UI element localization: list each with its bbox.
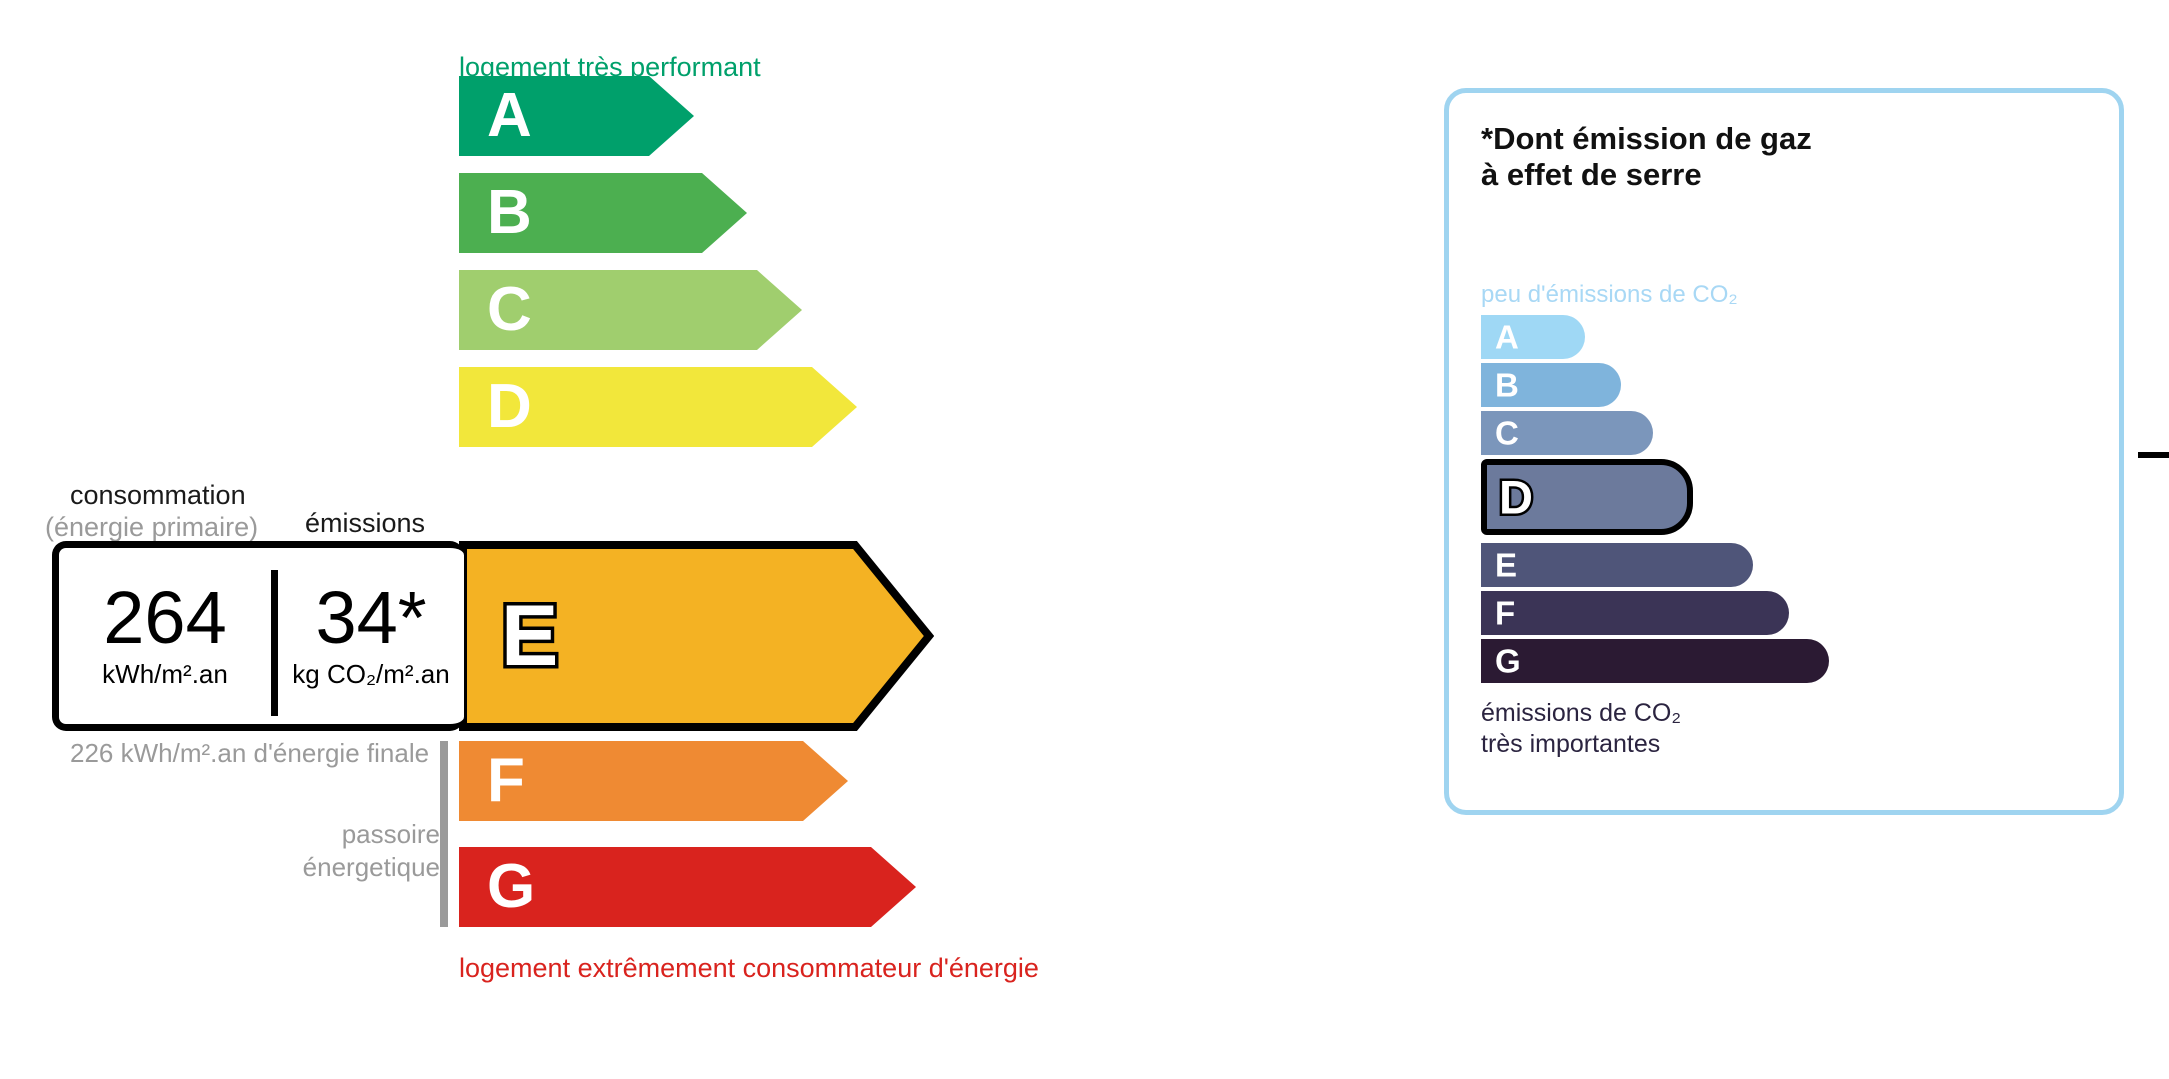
ges-class-letter-d: D: [1499, 474, 1533, 521]
energy-class-row-g[interactable]: G: [459, 847, 916, 927]
ges-class-row-d-selected[interactable]: D: [1481, 459, 1693, 535]
ges-class-row-e[interactable]: E: [1481, 543, 1753, 587]
consumption-value: 264: [103, 582, 226, 653]
ges-bar-f: F: [1481, 591, 1789, 635]
ges-class-row-b[interactable]: B: [1481, 363, 1621, 407]
energy-class-row-d[interactable]: D: [459, 367, 857, 447]
label-emissions: émissions: [305, 508, 425, 539]
emission-unit: kg CO₂/m².an: [292, 659, 449, 690]
consumption-unit: kWh/m².an: [102, 659, 228, 690]
ges-class-row-c[interactable]: C: [1481, 411, 1653, 455]
ges-bar-a: A: [1481, 315, 1585, 359]
ges-bottom-caption: émissions de CO₂ très importantes: [1481, 698, 1681, 759]
value-box-divider: [271, 570, 278, 716]
value-box: 264 kWh/m².an 34* kg CO₂/m².an: [52, 541, 464, 731]
ges-class-row-g[interactable]: G: [1481, 639, 1829, 683]
energy-class-letter-a: A: [487, 85, 532, 147]
ges-class-letter-a: A: [1495, 321, 1519, 354]
energy-performance-panel: logement très performant A B C: [0, 0, 1400, 1079]
energy-class-letter-g: G: [487, 856, 535, 918]
ges-class-letter-g: G: [1495, 645, 1521, 678]
ges-callout-line: [2138, 452, 2169, 458]
passoire-indicator-bar: [440, 741, 448, 927]
energy-class-letter-b: B: [487, 182, 532, 244]
ges-bar-e: E: [1481, 543, 1753, 587]
energy-class-row-e-selected[interactable]: E: [459, 541, 934, 731]
ges-class-letter-e: E: [1495, 549, 1517, 582]
ges-bar-d: D: [1481, 459, 1693, 535]
ges-top-caption: peu d'émissions de CO₂: [1481, 281, 1738, 309]
energy-class-row-f[interactable]: F: [459, 741, 848, 821]
label-energie-primaire: (énergie primaire): [45, 512, 258, 543]
ges-panel-title: *Dont émission de gaz à effet de serre: [1481, 121, 1812, 194]
ges-class-letter-b: B: [1495, 369, 1519, 402]
energy-bottom-caption: logement extrêmement consommateur d'éner…: [459, 953, 1039, 984]
ges-class-row-a[interactable]: A: [1481, 315, 1585, 359]
ges-class-letter-f: F: [1495, 597, 1515, 630]
emission-value: 34*: [315, 582, 426, 653]
energy-class-letter-e: E: [501, 593, 558, 679]
energy-class-letter-d: D: [487, 376, 532, 438]
emission-value-cell: 34* kg CO₂/m².an: [281, 548, 461, 724]
energy-class-letter-c: C: [487, 279, 532, 341]
ges-bar-b: B: [1481, 363, 1621, 407]
final-energy-note: 226 kWh/m².an d'énergie finale: [70, 737, 429, 770]
label-consommation: consommation: [70, 480, 246, 511]
energy-class-row-b[interactable]: B: [459, 173, 747, 253]
consumption-value-cell: 264 kWh/m².an: [59, 548, 271, 724]
ges-class-letter-c: C: [1495, 417, 1519, 450]
passoire-energetique-label: passoire énergetique: [280, 818, 440, 885]
ges-class-row-f[interactable]: F: [1481, 591, 1789, 635]
ges-bar-c: C: [1481, 411, 1653, 455]
energy-class-letter-f: F: [487, 750, 525, 812]
ges-bar-g: G: [1481, 639, 1829, 683]
ges-panel: *Dont émission de gaz à effet de serre p…: [1444, 88, 2124, 815]
energy-class-row-c[interactable]: C: [459, 270, 802, 350]
dpe-diagram: logement très performant A B C: [0, 0, 2169, 1079]
energy-class-row-a[interactable]: A: [459, 76, 694, 156]
